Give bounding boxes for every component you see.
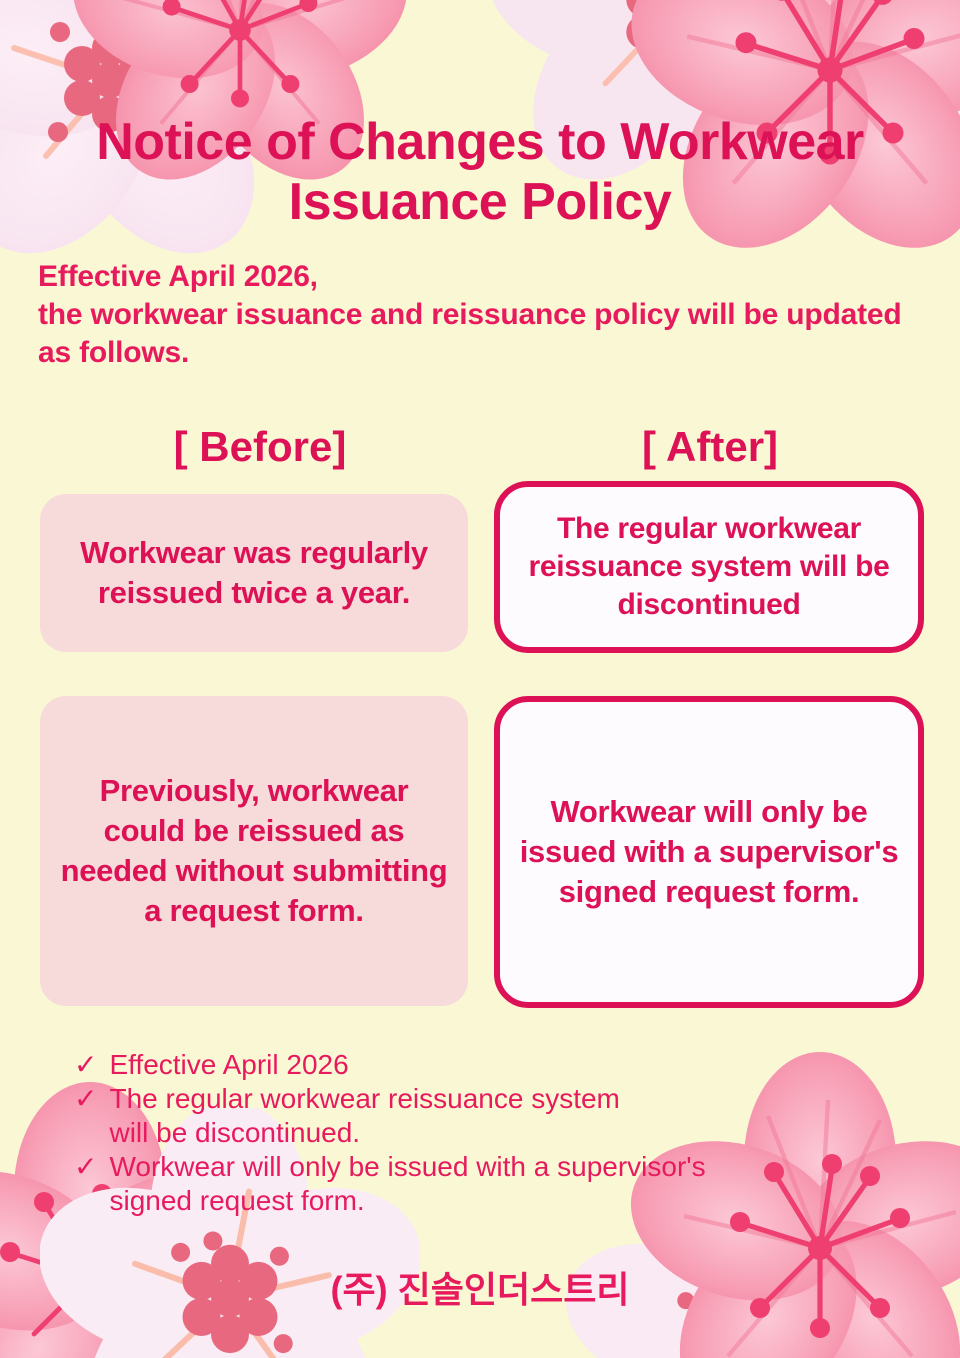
poster-content: Notice of Changes to Workwear Issuance P… bbox=[0, 0, 960, 1358]
checklist-item: ✓ Workwear will only be issued with a su… bbox=[74, 1150, 914, 1218]
before-card-1-text: Workwear was regularly reissued twice a … bbox=[40, 533, 468, 613]
checklist-item-text: Workwear will only be issued with a supe… bbox=[109, 1150, 914, 1218]
check-icon: ✓ bbox=[74, 1082, 97, 1116]
after-card-1-text: The regular workwear reissuance system w… bbox=[500, 510, 918, 624]
after-card-2-text: Workwear will only be issued with a supe… bbox=[500, 792, 918, 912]
checklist-item-text: Effective April 2026 bbox=[109, 1048, 914, 1082]
before-card-1: Workwear was regularly reissued twice a … bbox=[40, 494, 468, 652]
comparison-headings: [ Before] [ After] bbox=[0, 421, 960, 481]
check-icon: ✓ bbox=[74, 1150, 97, 1184]
before-column-heading: [ Before] bbox=[40, 421, 480, 473]
check-icon: ✓ bbox=[74, 1048, 97, 1082]
poster-canvas: Notice of Changes to Workwear Issuance P… bbox=[0, 0, 960, 1358]
after-column-heading: [ After] bbox=[490, 421, 930, 473]
checklist-item: ✓ The regular workwear reissuance system… bbox=[74, 1082, 914, 1150]
before-card-2-text: Previously, workwear could be reissued a… bbox=[40, 771, 468, 931]
intro-paragraph: Effective April 2026, the workwear issua… bbox=[38, 258, 938, 372]
summary-checklist: ✓ Effective April 2026 ✓ The regular wor… bbox=[74, 1048, 914, 1218]
company-name: (주) 진솔인더스트리 bbox=[0, 1268, 960, 1312]
after-card-1: The regular workwear reissuance system w… bbox=[494, 481, 924, 653]
after-card-2: Workwear will only be issued with a supe… bbox=[494, 696, 924, 1008]
checklist-item-text: The regular workwear reissuance system w… bbox=[109, 1082, 914, 1150]
before-card-2: Previously, workwear could be reissued a… bbox=[40, 696, 468, 1006]
checklist-item: ✓ Effective April 2026 bbox=[74, 1048, 914, 1082]
page-title: Notice of Changes to Workwear Issuance P… bbox=[0, 112, 960, 232]
